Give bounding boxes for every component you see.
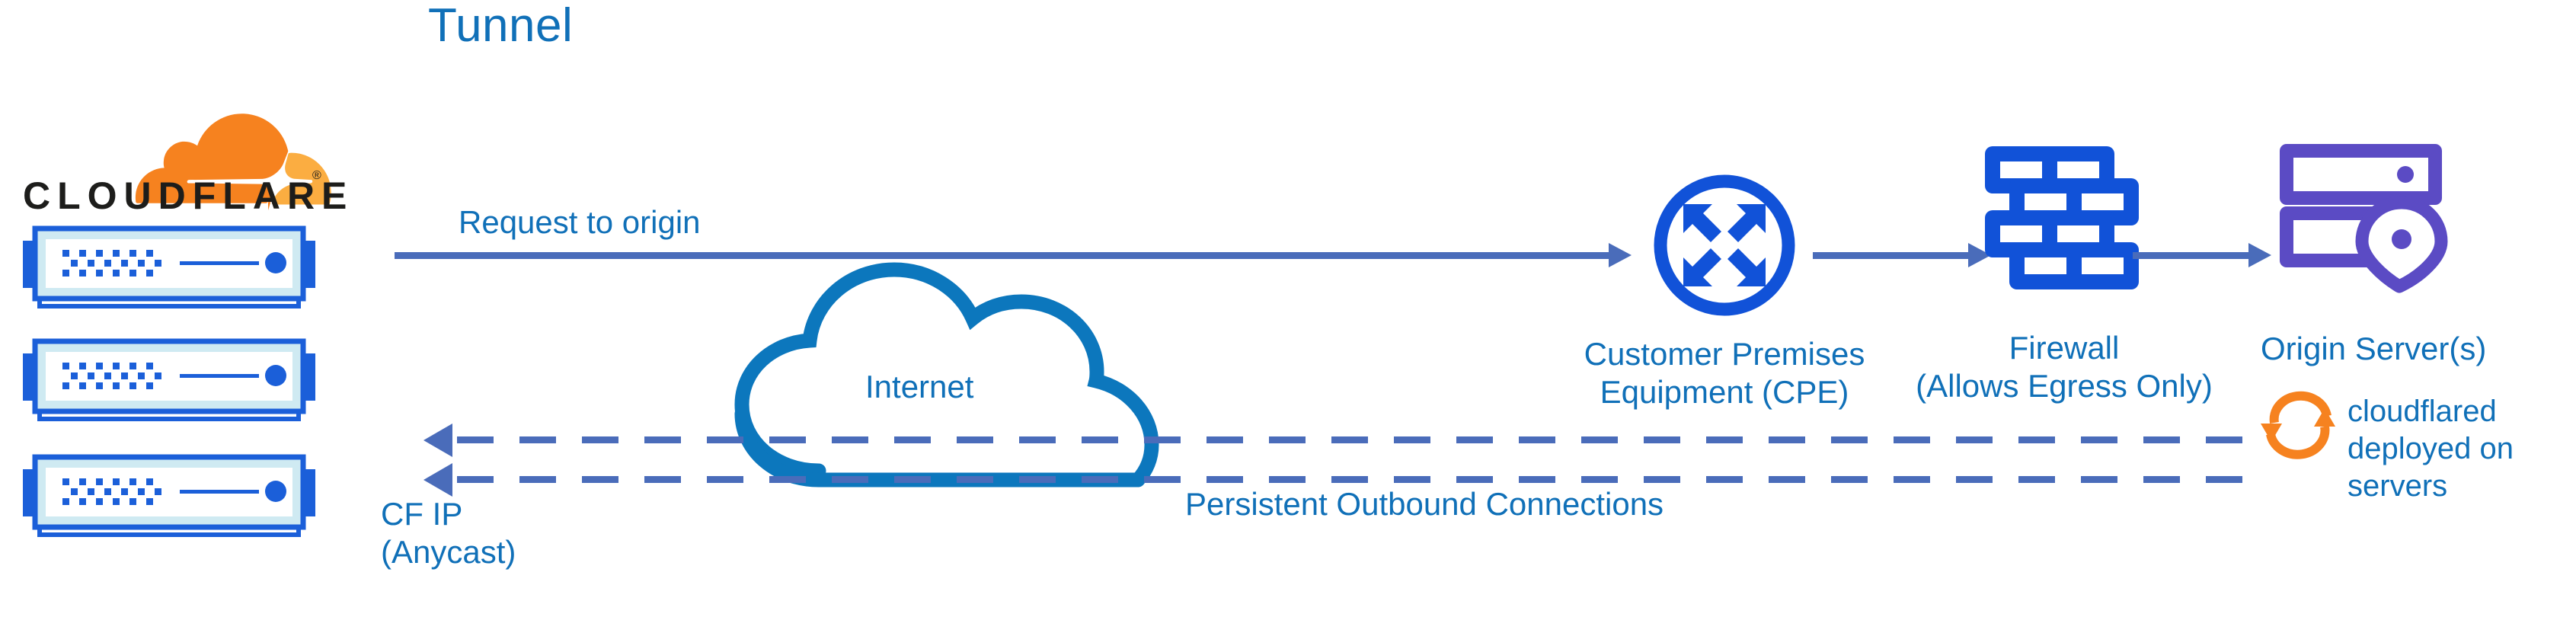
cloudflare-server-rack-1 — [11, 221, 338, 331]
firewall-to-origin-arrowhead-icon — [2248, 243, 2271, 267]
internet-label: Internet — [865, 369, 973, 405]
request-to-origin-arrowhead-icon — [1609, 243, 1632, 267]
cloudflare-server-rack-2 — [11, 334, 338, 444]
persistent-outbound-line-1 — [457, 436, 2247, 443]
cloudflared-label: cloudflared deployed on servers — [2347, 393, 2514, 504]
request-to-origin-label: Request to origin — [459, 204, 701, 241]
cpe-label: Customer Premises Equipment (CPE) — [1551, 335, 1898, 411]
cf-ip-anycast-label: CF IP (Anycast) — [381, 495, 516, 572]
sync-refresh-icon — [2255, 387, 2346, 467]
origin-server-label: Origin Server(s) — [2261, 331, 2486, 367]
brick-wall-icon — [1982, 145, 2142, 301]
page-title: Tunnel — [428, 0, 573, 53]
router-four-arrows-icon — [1648, 169, 1801, 325]
cloudflare-server-rack-3 — [11, 449, 338, 560]
firewall-label: Firewall (Allows Egress Only) — [1897, 329, 2232, 404]
registered-mark-icon: ® — [312, 169, 321, 183]
persistent-outbound-arrowhead-2-icon — [423, 463, 452, 497]
server-location-pin-icon — [2277, 143, 2453, 307]
firewall-to-origin-line — [2133, 252, 2253, 259]
cpe-to-firewall-line — [1813, 252, 1973, 259]
internet-cloud-icon — [708, 229, 1181, 491]
persistent-outbound-arrowhead-1-icon — [423, 424, 452, 457]
cloudflare-wordmark: CLOUDFLARE — [23, 174, 353, 218]
diagram-canvas: Tunnel CLOUDFLARE ® — [0, 0, 2576, 617]
persistent-outbound-line-2 — [457, 476, 2247, 483]
persistent-outbound-label: Persistent Outbound Connections — [1181, 486, 1668, 523]
